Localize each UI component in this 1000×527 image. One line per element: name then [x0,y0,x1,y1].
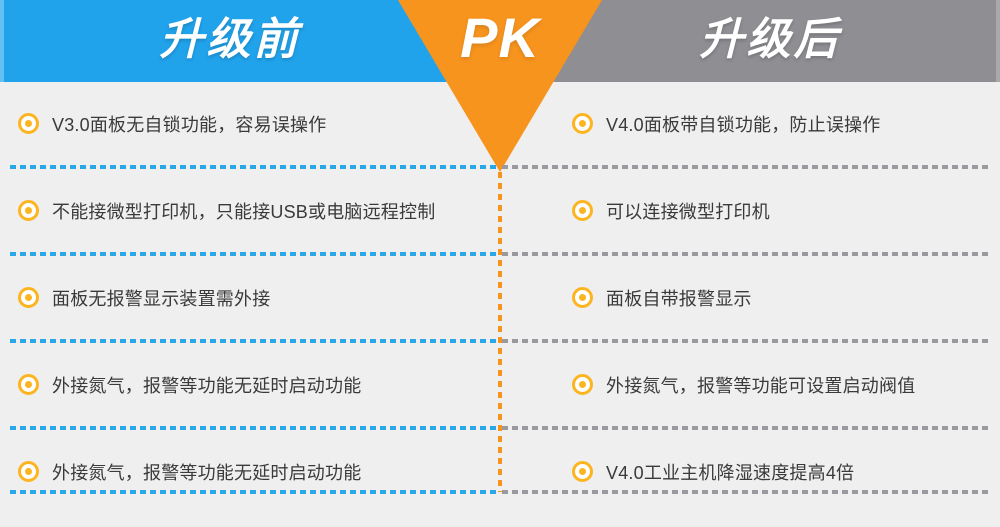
radio-dot-icon [572,200,593,221]
comparison-infographic: 升级前 升级后 PK V3.0面板无自锁功能，容易误操作 V4.0面板带自锁功能… [0,0,1000,527]
table-row: 不能接微型打印机，只能接USB或电脑远程控制 可以连接微型打印机 [0,169,1000,252]
header-band: 升级前 升级后 [0,0,1000,82]
row-cell-after: 面板自带报警显示 [572,256,992,339]
header-title-after: 升级后 [540,0,1000,82]
row-text-before: V3.0面板无自锁功能，容易误操作 [52,111,326,137]
header-title-before: 升级前 [0,0,460,82]
row-cell-after: V4.0工业主机降湿速度提高4倍 [572,430,992,513]
row-text-after: 面板自带报警显示 [606,285,752,311]
row-cell-after: V4.0面板带自锁功能，防止误操作 [572,82,992,165]
row-cell-before: 面板无报警显示装置需外接 [18,256,492,339]
radio-dot-icon [18,374,39,395]
radio-dot-icon [572,461,593,482]
radio-dot-icon [18,461,39,482]
row-cell-after: 外接氮气，报警等功能可设置启动阀值 [572,343,992,426]
radio-dot-icon [18,113,39,134]
table-row: 面板无报警显示装置需外接 面板自带报警显示 [0,256,1000,339]
comparison-rows: V3.0面板无自锁功能，容易误操作 V4.0面板带自锁功能，防止误操作 不能接微… [0,82,1000,527]
row-text-after: 可以连接微型打印机 [606,198,770,224]
row-cell-before: 外接氮气，报警等功能无延时启动功能 [18,343,492,426]
row-text-before: 不能接微型打印机，只能接USB或电脑远程控制 [52,198,435,224]
radio-dot-icon [572,287,593,308]
radio-dot-icon [572,113,593,134]
row-text-after: 外接氮气，报警等功能可设置启动阀值 [606,372,915,398]
row-divider [0,490,1000,494]
row-text-before: 面板无报警显示装置需外接 [52,285,270,311]
row-text-after: V4.0工业主机降湿速度提高4倍 [606,459,854,485]
row-divider-left [10,490,500,494]
row-text-after: V4.0面板带自锁功能，防止误操作 [606,111,880,137]
row-divider-right [502,490,992,494]
radio-dot-icon [572,374,593,395]
row-cell-after: 可以连接微型打印机 [572,169,992,252]
row-cell-before: 不能接微型打印机，只能接USB或电脑远程控制 [18,169,492,252]
radio-dot-icon [18,200,39,221]
row-cell-before: 外接氮气，报警等功能无延时启动功能 [18,430,492,513]
table-row: 外接氮气，报警等功能无延时启动功能 V4.0工业主机降湿速度提高4倍 [0,430,1000,513]
table-row: 外接氮气，报警等功能无延时启动功能 外接氮气，报警等功能可设置启动阀值 [0,343,1000,426]
table-row: V3.0面板无自锁功能，容易误操作 V4.0面板带自锁功能，防止误操作 [0,82,1000,165]
row-text-before: 外接氮气，报警等功能无延时启动功能 [52,459,361,485]
radio-dot-icon [18,287,39,308]
row-cell-before: V3.0面板无自锁功能，容易误操作 [18,82,492,165]
row-text-before: 外接氮气，报警等功能无延时启动功能 [52,372,361,398]
